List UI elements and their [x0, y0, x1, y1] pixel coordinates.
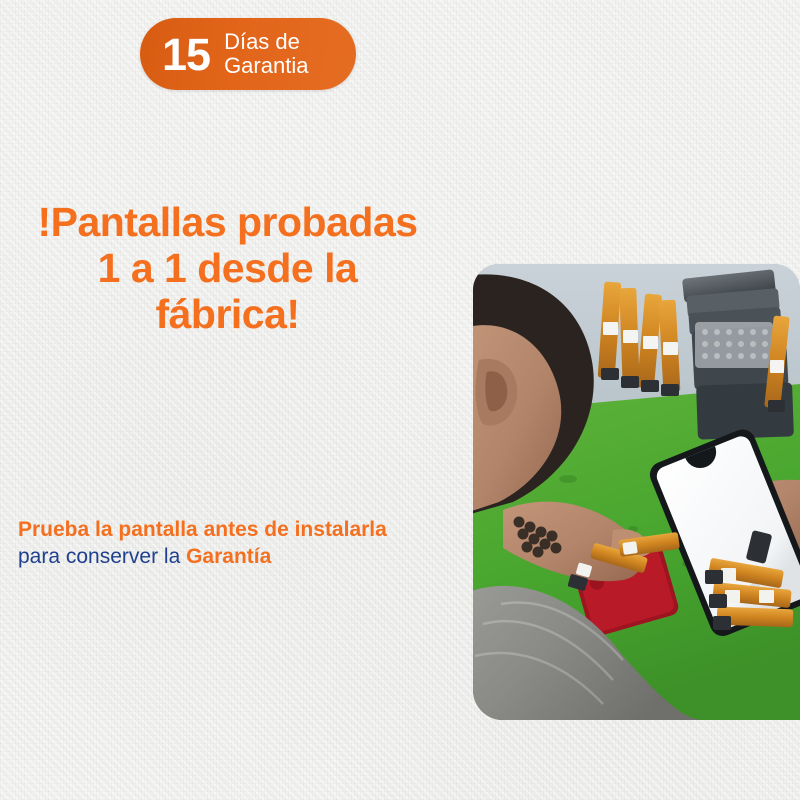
badge-text: Días de Garantia	[224, 30, 308, 78]
badge-line-1: Días de	[224, 30, 308, 54]
headline: !Pantallas probadas 1 a 1 desde la fábri…	[0, 200, 455, 338]
warranty-days-badge: 15 Días de Garantia	[140, 18, 356, 90]
subheadline-line-2-plain: para conserver la	[18, 545, 186, 568]
badge-number: 15	[162, 32, 210, 77]
subheadline: Prueba la pantalla antes de instalarla p…	[18, 516, 458, 571]
headline-line-1: !Pantallas probadas	[0, 200, 455, 246]
subheadline-line-2-emphasis: Garantía	[186, 545, 271, 568]
workbench-photo	[473, 264, 800, 720]
subheadline-line-1: Prueba la pantalla antes de instalarla	[18, 516, 458, 543]
warranty-promo-poster: 15 Días de Garantia !Pantallas probadas …	[0, 0, 800, 800]
badge-line-2: Garantia	[224, 54, 308, 78]
headline-line-2: 1 a 1 desde la	[0, 246, 455, 292]
photo-illustration	[473, 264, 800, 720]
subheadline-line-2: para conserver la Garantía	[18, 543, 458, 570]
headline-line-3: fábrica!	[0, 292, 455, 338]
